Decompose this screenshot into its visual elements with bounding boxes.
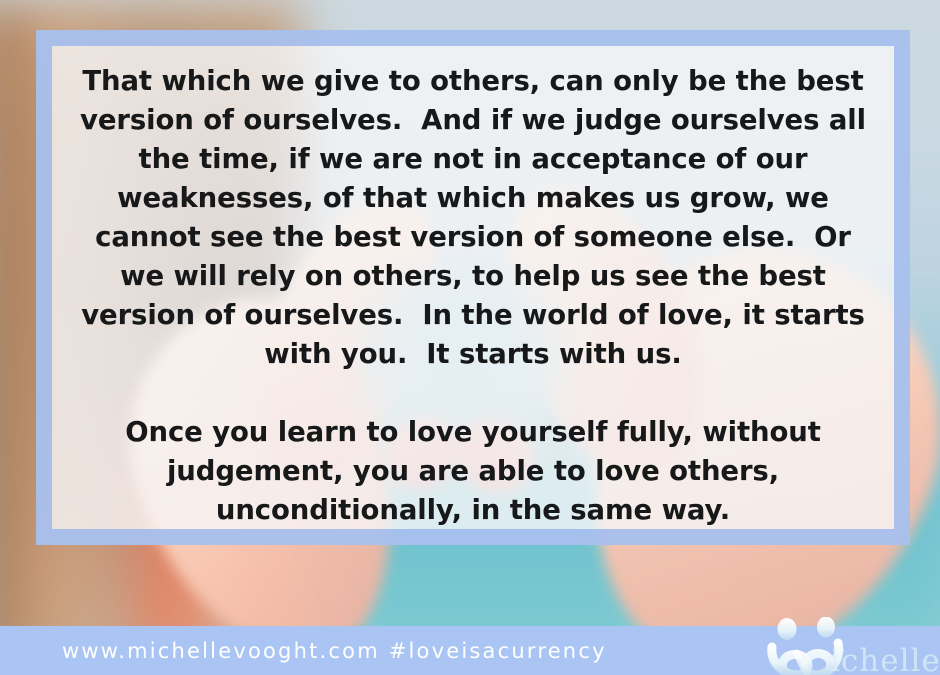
quote-paragraph-2: Once you learn to love yourself fully, w…: [78, 413, 868, 530]
footer-url-text: www.michellevooght.com #loveisacurrency: [62, 639, 607, 663]
quote-card: That which we give to others, can only b…: [0, 0, 940, 675]
brand-logo[interactable]: ichelle: [764, 617, 934, 675]
footer-bar: www.michellevooght.com #loveisacurrency: [0, 626, 940, 675]
quote-panel-inner: That which we give to others, can only b…: [52, 46, 894, 529]
quote-paragraph-1: That which we give to others, can only b…: [78, 62, 868, 374]
quote-panel: That which we give to others, can only b…: [36, 30, 910, 545]
logo-wordmark: ichelle: [830, 646, 940, 675]
